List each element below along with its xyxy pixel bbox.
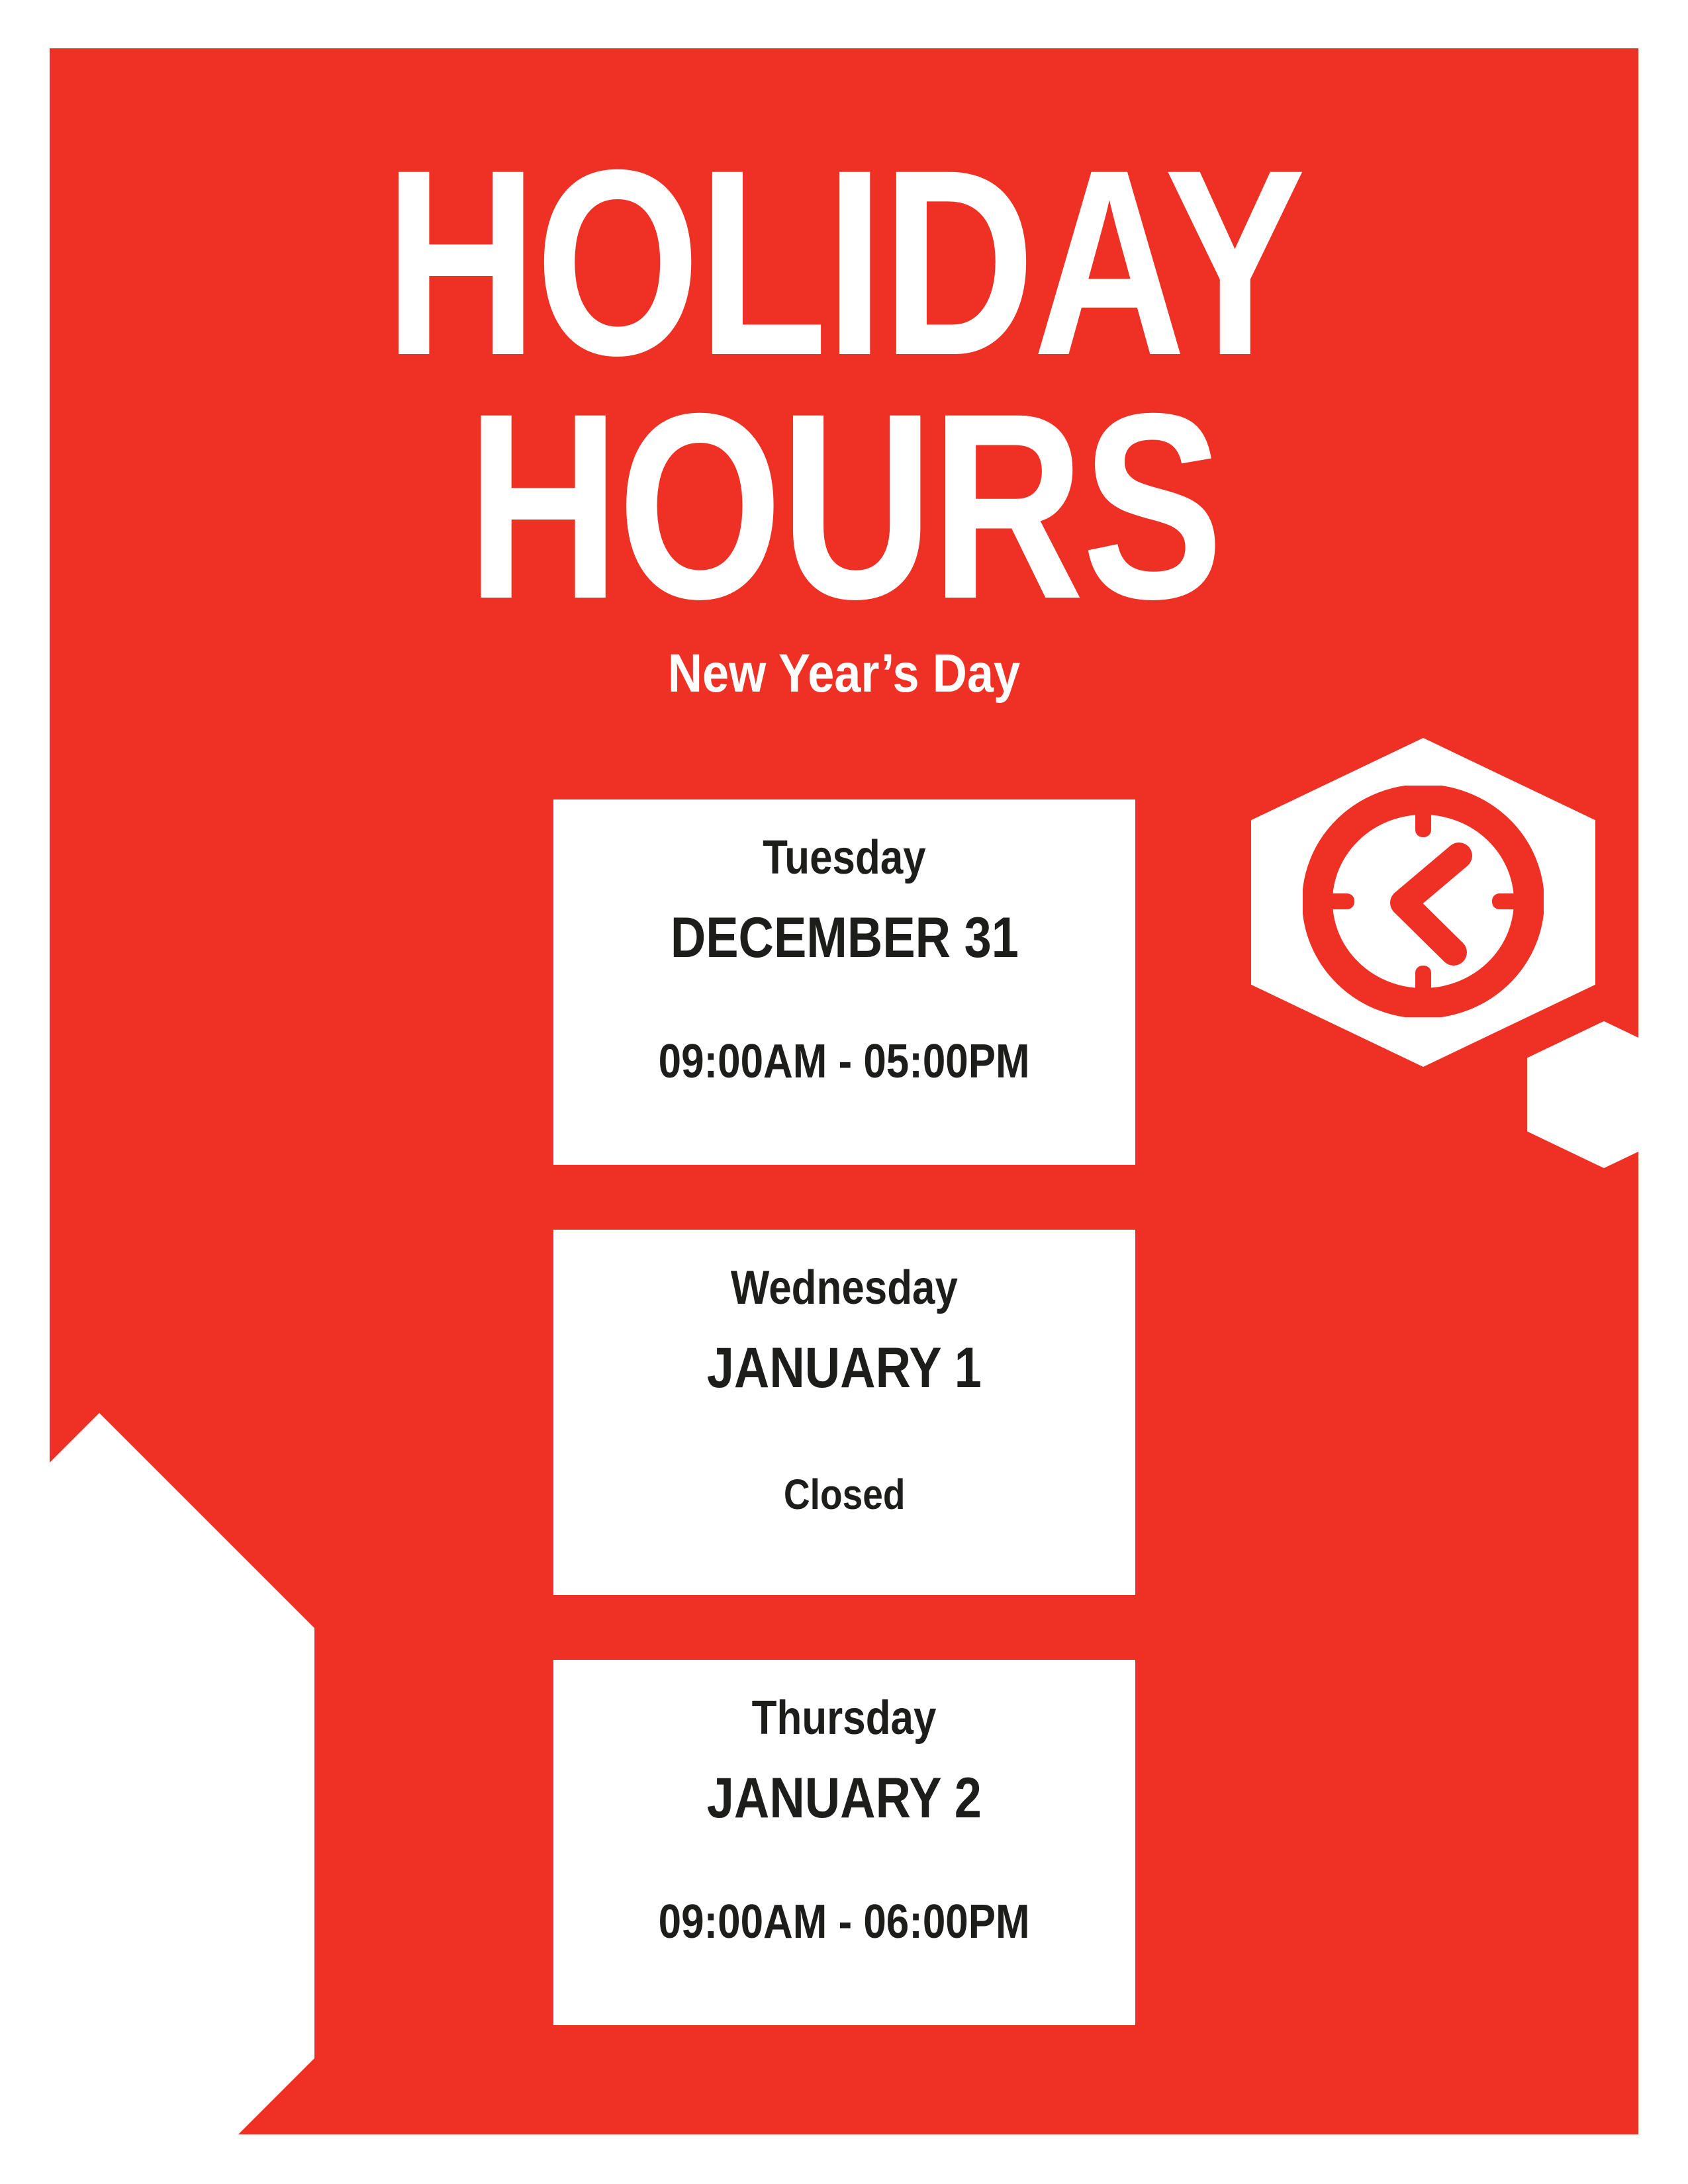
holiday-hours-poster: HOLIDAY HOURS New Year’s Day Tuesday DEC… xyxy=(50,48,1638,2134)
card-date-label: JANUARY 2 xyxy=(707,1770,982,1827)
schedule-card: Tuesday DECEMBER 31 09:00AM - 05:00PM xyxy=(553,799,1135,1165)
schedule-card: Thursday JANUARY 2 09:00AM - 06:00PM xyxy=(553,1660,1135,2025)
card-day-label: Thursday xyxy=(752,1694,937,1742)
card-hours-label: Closed xyxy=(784,1473,906,1516)
card-date-label: DECEMBER 31 xyxy=(670,909,1018,966)
poster-title: HOLIDAY HOURS xyxy=(50,141,1638,628)
schedule-card: Wednesday JANUARY 1 Closed xyxy=(553,1230,1135,1595)
title-line-2: HOURS xyxy=(209,385,1479,628)
card-hours-label: 09:00AM - 06:00PM xyxy=(659,1898,1030,1946)
title-line-1: HOLIDAY xyxy=(209,141,1479,385)
card-day-label: Tuesday xyxy=(763,834,926,882)
poster-subtitle: New Year’s Day xyxy=(145,643,1543,705)
card-hours-label: 09:00AM - 05:00PM xyxy=(659,1038,1030,1085)
hexagon-badge xyxy=(1251,738,1595,1067)
card-day-label: Wednesday xyxy=(731,1264,958,1312)
card-date-label: JANUARY 1 xyxy=(707,1340,982,1396)
clock-icon xyxy=(1303,786,1544,1017)
hexagon-accent-corner xyxy=(50,1413,314,2134)
